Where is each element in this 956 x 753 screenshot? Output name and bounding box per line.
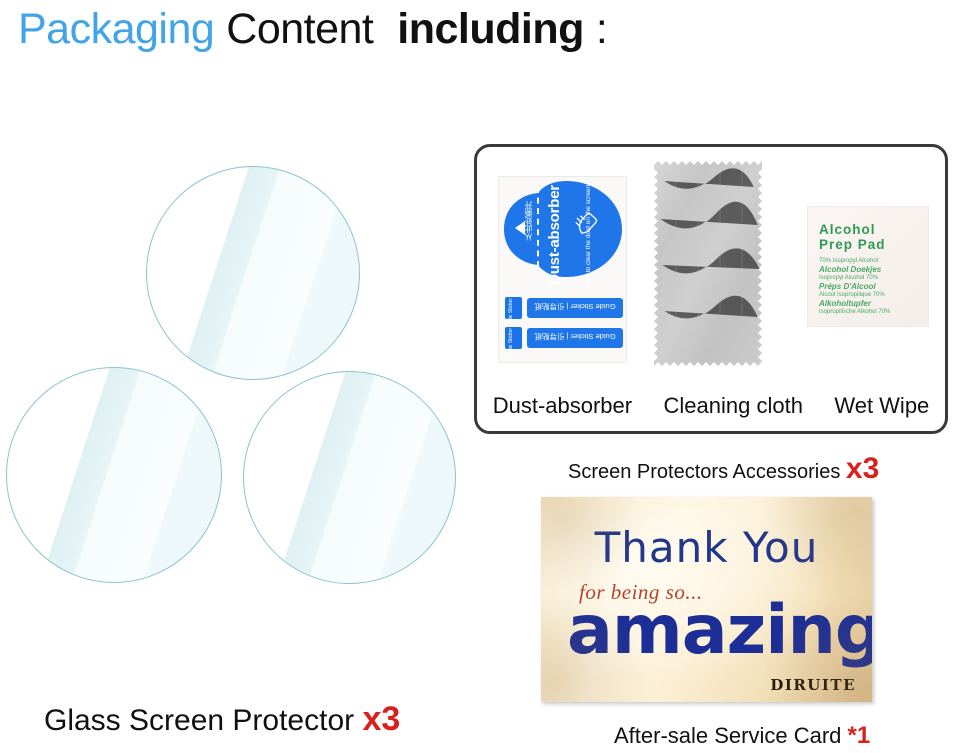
guide-sticker-tab-label: Guide Sticker xyxy=(508,298,514,328)
accessories-quantity: x3 xyxy=(846,452,879,485)
guide-sticker-tab: Guide Sticker xyxy=(505,327,522,349)
accessory-label-wet-wipe: Wet Wipe xyxy=(834,393,929,419)
title-word-content: Content xyxy=(226,5,373,53)
guide-sticker-tab: Guide Sticker xyxy=(505,297,522,319)
accessories-labels-row: Dust-absorber Cleaning cloth Wet Wipe xyxy=(477,393,945,419)
glass-protector-quantity: x3 xyxy=(362,700,400,738)
alcohol-prep-pad-packet: Alcohol Prep Pad 70% Isopropyl Alcohol A… xyxy=(807,206,929,327)
page-title: Packaging Content including : xyxy=(18,3,608,55)
glass-protector-circle xyxy=(243,371,456,584)
guide-sticker-strip: Guide Sticker | 引导贴纸 xyxy=(527,298,623,318)
alcohol-line: Préps D'Alcool xyxy=(819,283,923,292)
guide-sticker-strip: Guide Sticker | 引导贴纸 xyxy=(527,328,623,348)
alcohol-prep-pad-title: Alcohol Prep Pad xyxy=(819,222,886,252)
tear-line-dashed xyxy=(537,187,539,267)
service-card-caption: After-sale Service Card *1 xyxy=(614,722,870,750)
alcohol-prep-pad-title-line1: Alcohol xyxy=(819,222,886,237)
guide-sticker-row: Guide Sticker Guide Sticker | 引导贴纸 xyxy=(505,297,623,319)
guide-sticker-tab-label: Guide Sticker xyxy=(508,328,514,358)
alcohol-line: Alcohol Doekjes xyxy=(819,266,923,275)
dust-absorber-sticker-title: Dust-absorber xyxy=(546,185,563,285)
card-amazing-text: amazing xyxy=(567,593,872,669)
alcohol-line: Alkoholtupfer xyxy=(819,300,923,309)
glass-protector-circle xyxy=(146,166,360,380)
service-card-label: After-sale Service Card xyxy=(614,723,841,748)
guide-sticker-row: Guide Sticker Guide Sticker | 引导贴纸 xyxy=(505,327,623,349)
title-colon: : xyxy=(596,5,608,53)
accessories-box: 从此处撕开 Dust-absorber used to clear the du… xyxy=(474,144,948,434)
title-word-including: including xyxy=(397,5,584,53)
alcohol-prep-pad-title-line2: Prep Pad xyxy=(819,237,886,252)
guide-sticker-strip-label: Guide Sticker | 引导贴纸 xyxy=(527,331,623,342)
cleaning-cloth xyxy=(654,161,762,366)
alcohol-line: Isopropilische Alkohol 70% xyxy=(819,308,923,317)
glass-protector-caption: Glass Screen Protector x3 xyxy=(44,700,400,739)
accessory-label-cleaning-cloth: Cleaning cloth xyxy=(664,393,803,419)
accessories-items: 从此处撕开 Dust-absorber used to clear the du… xyxy=(477,147,945,379)
accessories-caption: Screen Protectors Accessories x3 xyxy=(568,452,879,486)
packaging-content-page: Packaging Content including : Glass Scre… xyxy=(0,0,956,753)
dust-absorber-sheet: 从此处撕开 Dust-absorber used to clear the du… xyxy=(498,176,627,363)
glass-protector-label: Glass Screen Protector xyxy=(44,704,354,737)
dust-absorber-chinese-note: 从此处撕开 xyxy=(523,201,534,241)
after-sale-service-card: Thank You for being so... amazing DIRUIT… xyxy=(541,497,872,702)
accessories-caption-label: Screen Protectors Accessories xyxy=(568,461,840,483)
accessory-label-dust-absorber: Dust-absorber xyxy=(493,393,632,419)
card-brand-logo: DIRUITE xyxy=(770,676,856,694)
alcohol-prep-pad-lines: 70% Isopropyl Alcohol Alcohol Doekjes Is… xyxy=(819,257,923,317)
glass-protector-circle xyxy=(6,367,222,583)
card-thank-you-text: Thank You xyxy=(541,523,872,572)
title-word-packaging: Packaging xyxy=(18,5,214,53)
hand-peeling-icon xyxy=(571,211,599,237)
service-card-quantity: *1 xyxy=(848,722,871,749)
guide-sticker-strip-label: Guide Sticker | 引导贴纸 xyxy=(527,301,623,312)
